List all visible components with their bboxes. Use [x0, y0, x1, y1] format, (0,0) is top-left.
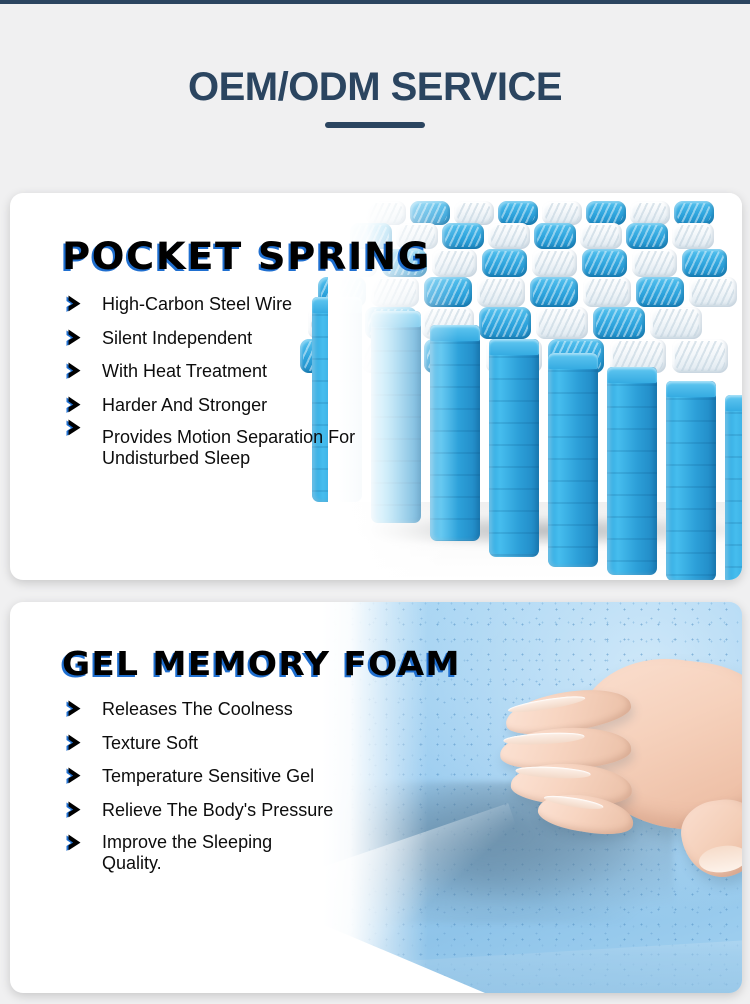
- feature-text: Releases The Coolness: [102, 699, 293, 719]
- pocket-spring-content: POCKET SPRING High-Carbon Steel Wire Sil…: [62, 238, 422, 480]
- page-root: OEM/ODM SERVICE: [0, 0, 750, 1004]
- feature-item: Temperature Sensitive Gel: [62, 765, 422, 788]
- chevron-right-icon: [64, 801, 90, 820]
- feature-item: Provides Motion Separation For Undisturb…: [62, 427, 422, 469]
- feature-card-pocket-spring[interactable]: POCKET SPRING High-Carbon Steel Wire Sil…: [10, 193, 742, 580]
- coil-body: [489, 339, 539, 557]
- feature-text: Temperature Sensitive Gel: [102, 766, 314, 786]
- coil-top: [682, 249, 727, 277]
- coil-top: [482, 249, 527, 277]
- chevron-right-icon: [64, 700, 90, 719]
- card-title-pocket-spring: POCKET SPRING: [62, 238, 436, 275]
- feature-list-gel-memory-foam: Releases The Coolness Texture Soft Tempe…: [62, 698, 422, 874]
- chevron-right-icon: [64, 419, 90, 438]
- feature-text: Harder And Stronger: [102, 395, 267, 415]
- coil-top: [488, 223, 530, 249]
- chevron-right-icon: [64, 295, 90, 314]
- coil-body: [725, 395, 742, 580]
- coil-top: [582, 249, 627, 277]
- coil-top: [580, 223, 622, 249]
- top-accent-rule: [0, 0, 750, 4]
- fingernail: [698, 844, 742, 877]
- coil-top: [534, 223, 576, 249]
- page-header: OEM/ODM SERVICE: [0, 66, 750, 128]
- feature-card-gel-memory-foam[interactable]: GEL MEMORY FOAM Releases The Coolness Te…: [10, 602, 742, 993]
- coil-top: [632, 249, 677, 277]
- chevron-right-icon: [64, 834, 90, 853]
- fingernail: [503, 731, 585, 746]
- feature-item: With Heat Treatment: [62, 360, 422, 383]
- feature-list-pocket-spring: High-Carbon Steel Wire Silent Independen…: [62, 293, 422, 469]
- coil-top: [542, 201, 582, 225]
- coil-body: [666, 381, 716, 580]
- feature-item: Texture Soft: [62, 732, 422, 755]
- coil-body: [607, 367, 657, 575]
- gel-memory-foam-content: GEL MEMORY FOAM Releases The Coolness Te…: [62, 647, 422, 885]
- card-title-gel-memory-foam: GEL MEMORY FOAM: [62, 647, 436, 680]
- fingernail: [515, 765, 590, 780]
- feature-text: Improve the Sleeping Quality.: [102, 832, 272, 873]
- chevron-right-icon: [64, 767, 90, 786]
- page-title: OEM/ODM SERVICE: [0, 66, 750, 108]
- feature-item: High-Carbon Steel Wire: [62, 293, 422, 316]
- coil-top: [674, 201, 714, 225]
- coil-top: [454, 201, 494, 225]
- title-underline: [325, 122, 425, 128]
- coil-top: [672, 223, 714, 249]
- coil-top: [498, 201, 538, 225]
- fingernail: [508, 693, 587, 715]
- feature-text: High-Carbon Steel Wire: [102, 294, 292, 314]
- feature-text: Texture Soft: [102, 733, 198, 753]
- hand-graphic: [500, 637, 742, 864]
- coil-body: [548, 353, 598, 567]
- feature-item: Releases The Coolness: [62, 698, 422, 721]
- feature-text: Provides Motion Separation For Undisturb…: [102, 427, 355, 468]
- feature-item: Silent Independent: [62, 327, 422, 350]
- feature-item: Relieve The Body's Pressure: [62, 799, 422, 822]
- chevron-right-icon: [64, 734, 90, 753]
- feature-item: Improve the Sleeping Quality.: [62, 832, 292, 874]
- chevron-right-icon: [64, 362, 90, 381]
- coil-top: [626, 223, 668, 249]
- feature-text: With Heat Treatment: [102, 361, 267, 381]
- coil-top: [586, 201, 626, 225]
- coil-top: [630, 201, 670, 225]
- feature-item: Harder And Stronger: [62, 394, 422, 417]
- feature-text: Relieve The Body's Pressure: [102, 800, 333, 820]
- chevron-right-icon: [64, 396, 90, 415]
- feature-text: Silent Independent: [102, 328, 252, 348]
- chevron-right-icon: [64, 329, 90, 348]
- coil-top: [532, 249, 577, 277]
